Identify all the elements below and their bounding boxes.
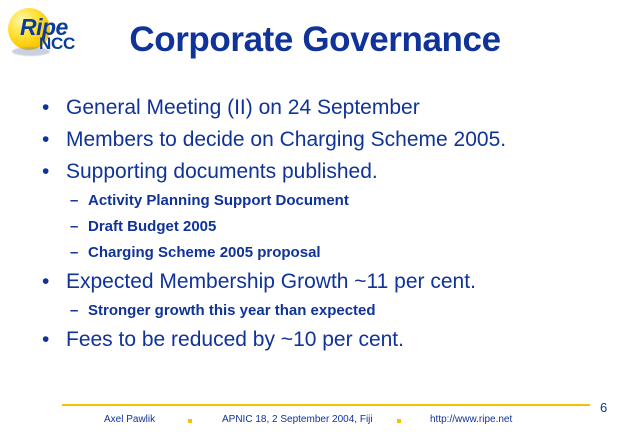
footer-separator-dot-icon <box>188 419 192 423</box>
dash-marker: – <box>70 214 78 240</box>
footer: Axel Pawlik APNIC 18, 2 September 2004, … <box>62 412 590 432</box>
page-title: Corporate Governance <box>0 20 630 60</box>
list-item: • Supporting documents published. <box>0 156 630 188</box>
footer-url: http://www.ripe.net <box>430 412 512 428</box>
list-item-text: Supporting documents published. <box>66 160 378 183</box>
list-item: • Members to decide on Charging Scheme 2… <box>0 124 630 156</box>
bullet-marker: • <box>42 124 49 156</box>
sub-list-item-text: Activity Planning Support Document <box>88 192 349 209</box>
sub-list-item-text: Stronger growth this year than expected <box>88 302 376 319</box>
sub-list-item: – Draft Budget 2005 <box>0 214 630 240</box>
dash-marker: – <box>70 188 78 214</box>
dash-marker: – <box>70 240 78 266</box>
footer-separator-dot-icon <box>397 419 401 423</box>
list-item-text: Fees to be reduced by ~10 per cent. <box>66 328 404 351</box>
list-item-text: Expected Membership Growth ~11 per cent. <box>66 270 476 293</box>
footer-divider <box>62 404 590 406</box>
footer-event: APNIC 18, 2 September 2004, Fiji <box>222 412 373 428</box>
footer-author: Axel Pawlik <box>104 412 155 428</box>
page-number: 6 <box>600 400 607 416</box>
bullet-marker: • <box>42 324 49 356</box>
sub-list-item-text: Draft Budget 2005 <box>88 218 216 235</box>
bullet-list: • General Meeting (II) on 24 September •… <box>0 92 630 356</box>
sub-list-item: – Activity Planning Support Document <box>0 188 630 214</box>
sub-list-item: – Charging Scheme 2005 proposal <box>0 240 630 266</box>
list-item-text: Members to decide on Charging Scheme 200… <box>66 128 506 151</box>
sub-list-item: – Stronger growth this year than expecte… <box>0 298 630 324</box>
list-item: • Fees to be reduced by ~10 per cent. <box>0 324 630 356</box>
bullet-marker: • <box>42 266 49 298</box>
list-item-text: General Meeting (II) on 24 September <box>66 96 420 119</box>
sub-list-item-text: Charging Scheme 2005 proposal <box>88 244 321 261</box>
list-item: • Expected Membership Growth ~11 per cen… <box>0 266 630 298</box>
bullet-marker: • <box>42 156 49 188</box>
slide: Ripe NCC Corporate Governance • General … <box>0 0 630 436</box>
list-item: • General Meeting (II) on 24 September <box>0 92 630 124</box>
bullet-marker: • <box>42 92 49 124</box>
dash-marker: – <box>70 298 78 324</box>
